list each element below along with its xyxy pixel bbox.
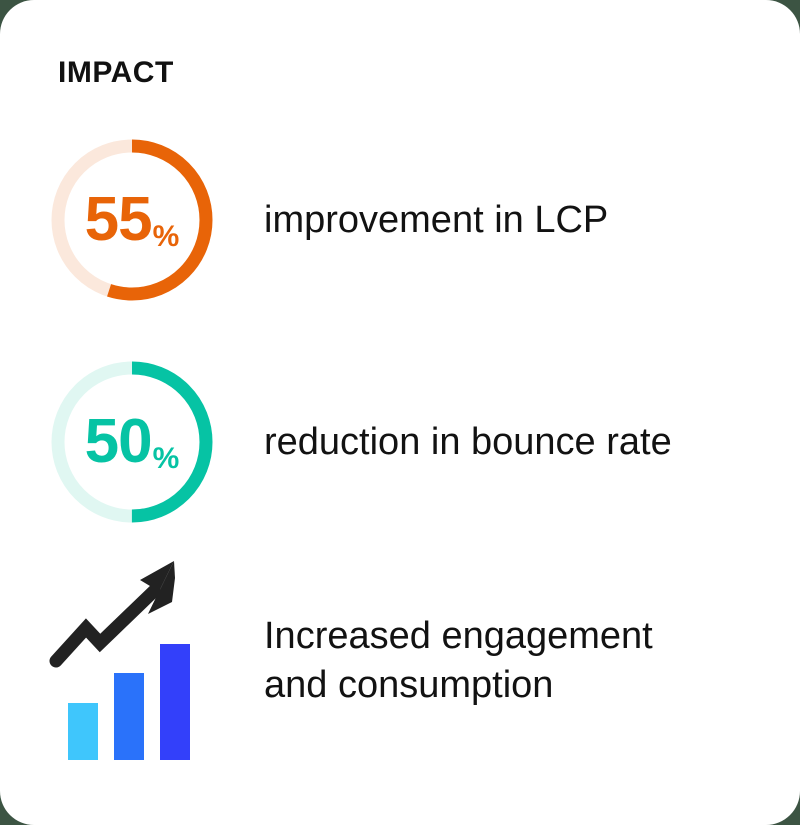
stat-number: 50 <box>85 411 152 473</box>
percent-symbol: % <box>153 444 180 532</box>
growth-chart-icon <box>42 556 222 766</box>
impact-card: IMPACT 55% improvement in LCP 50% <box>0 0 800 825</box>
page-title: IMPACT <box>58 58 174 88</box>
bar-mid <box>114 673 144 760</box>
bar-light <box>68 703 98 760</box>
donut-chart-icon-lcp: 55% <box>42 130 222 310</box>
stat-number: 55 <box>85 189 152 251</box>
stat-value-lcp: 55% <box>42 130 222 310</box>
stat-caption-line-1: Increased engagement <box>264 615 653 657</box>
stat-value-bounce-rate: 50% <box>42 352 222 532</box>
donut-chart-icon-bounce-rate: 50% <box>42 352 222 532</box>
stat-caption-lcp: improvement in LCP <box>264 196 608 245</box>
stat-row-engagement: Increased engagement and consumption <box>0 556 800 766</box>
trend-line <box>56 591 154 661</box>
stat-row-lcp: 55% improvement in LCP <box>0 130 800 310</box>
percent-symbol: % <box>153 222 180 310</box>
bar-dark <box>160 644 190 760</box>
stat-caption-line-1: reduction in bounce rate <box>264 421 672 463</box>
stat-caption-line-1: improvement in LCP <box>264 199 608 241</box>
stat-caption-engagement: Increased engagement and consumption <box>264 612 653 709</box>
stat-row-bounce-rate: 50% reduction in bounce rate <box>0 352 800 532</box>
stat-caption-line-2: and consumption <box>264 661 653 710</box>
stat-caption-bounce-rate: reduction in bounce rate <box>264 418 672 467</box>
